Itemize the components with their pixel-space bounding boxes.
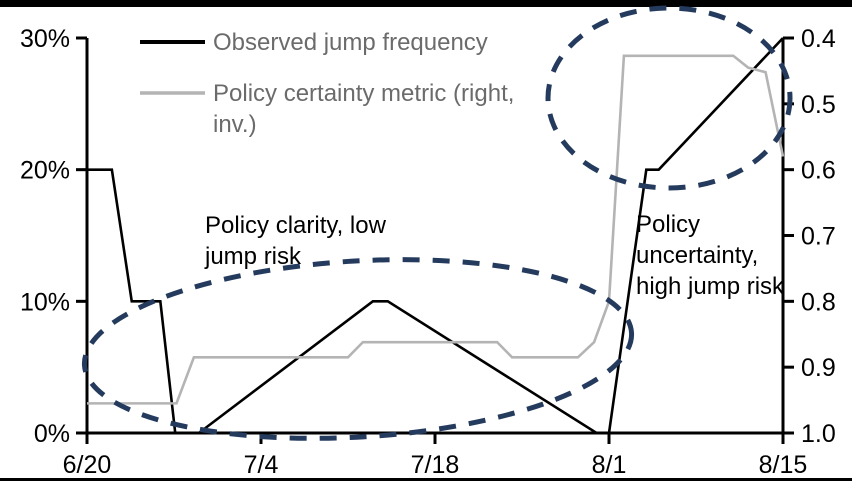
left-tick-label: 30% — [20, 25, 70, 53]
right-annotation-line: Policy — [636, 211, 700, 238]
right-tick-label: 0.6 — [801, 157, 836, 185]
annotations-group: Policy clarity, lowjump riskPolicyuncert… — [204, 211, 785, 300]
left-tick-label: 0% — [34, 420, 70, 448]
right-tick-label: 1.0 — [801, 420, 836, 448]
x-tick-label: 8/15 — [759, 451, 808, 479]
left-axis-ticks — [76, 38, 87, 433]
left-tick-label: 20% — [20, 157, 70, 185]
right-tick-label: 0.8 — [801, 288, 836, 316]
legend-label: Observed jump frequency — [213, 29, 488, 56]
right-annotation-line: high jump risk — [636, 273, 785, 300]
left-annotation-line: jump risk — [204, 243, 302, 270]
low-risk-ellipse — [79, 245, 636, 453]
x-tick-label: 7/4 — [244, 451, 279, 479]
chart-canvas: 0%10%20%30% 0.40.50.60.70.80.91.0 6/207/… — [0, 0, 852, 481]
legend-label: Policy certainty metric (right, — [213, 80, 514, 107]
x-axis-tick-labels: 6/207/47/188/18/15 — [63, 451, 808, 479]
right-axis-tick-labels: 0.40.50.60.70.80.91.0 — [801, 25, 836, 448]
right-tick-label: 0.5 — [801, 91, 836, 119]
chart-legend: Observed jump frequencyPolicy certainty … — [140, 29, 514, 138]
right-tick-label: 0.9 — [801, 354, 836, 382]
legend-label: inv.) — [213, 111, 257, 138]
x-axis-ticks — [87, 433, 783, 444]
x-tick-label: 6/20 — [63, 451, 112, 479]
x-tick-label: 7/18 — [411, 451, 460, 479]
left-tick-label: 10% — [20, 288, 70, 316]
right-tick-label: 0.4 — [801, 25, 836, 53]
right-annotation-line: uncertainty, — [636, 242, 758, 269]
left-annotation-line: Policy clarity, low — [205, 212, 387, 239]
right-tick-label: 0.7 — [801, 223, 836, 251]
x-tick-label: 8/1 — [592, 451, 627, 479]
left-axis-tick-labels: 0%10%20%30% — [20, 25, 70, 448]
chart-figure: 0%10%20%30% 0.40.50.60.70.80.91.0 6/207/… — [0, 0, 852, 481]
high-risk-ellipse — [548, 8, 790, 188]
